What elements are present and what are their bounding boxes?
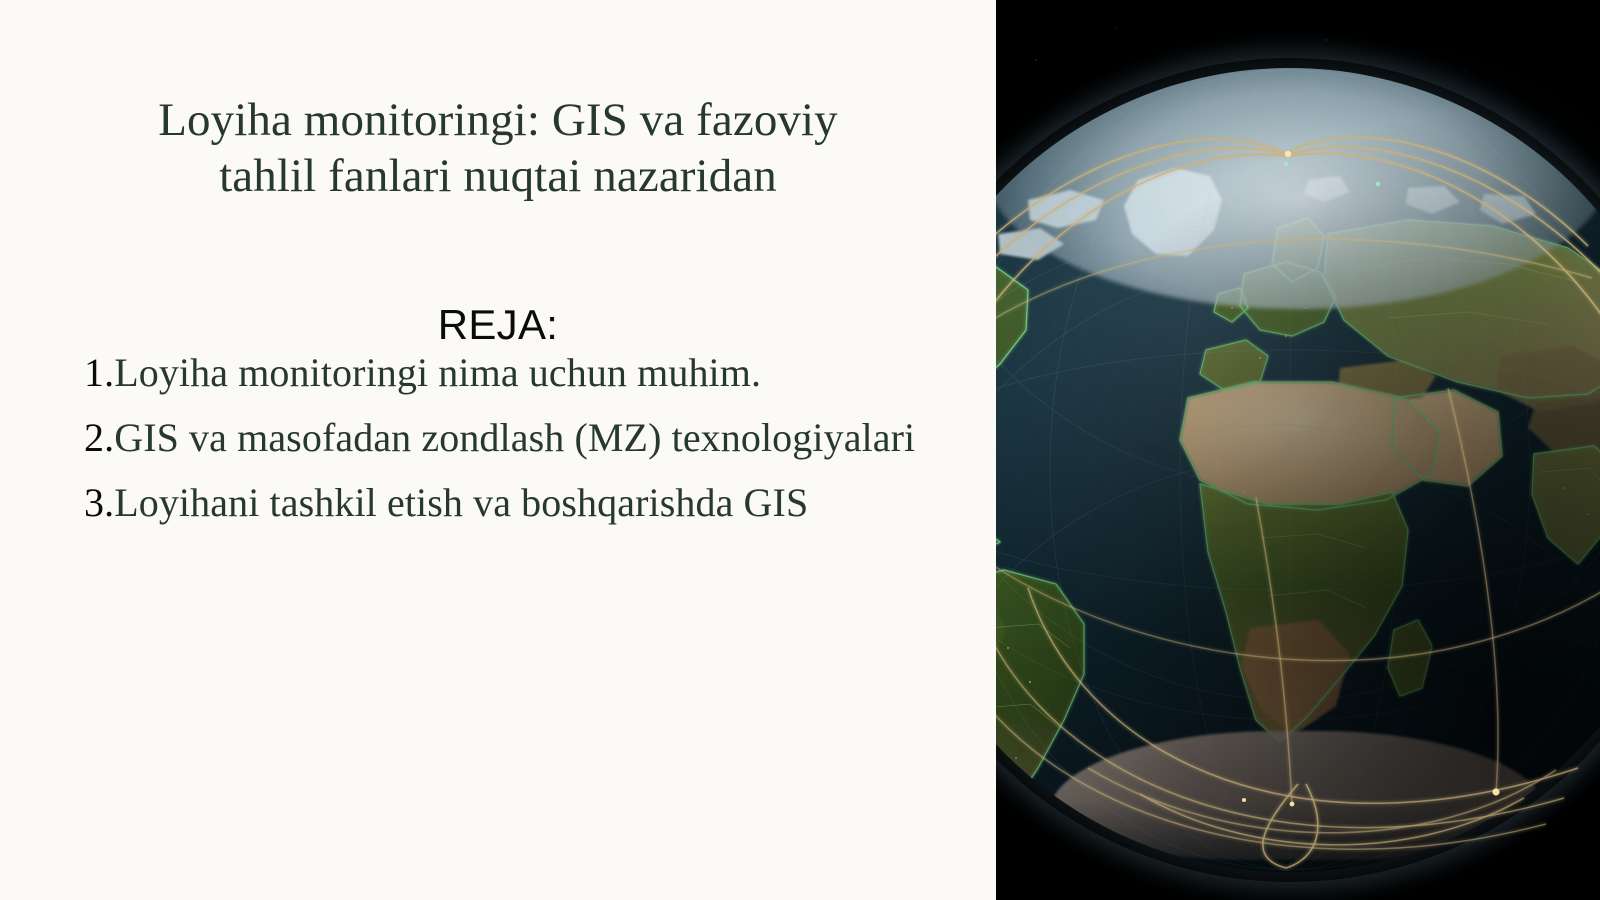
graticule-grid [996, 68, 1600, 872]
earth-globe-network-image [996, 0, 1600, 900]
agenda-list: 1.Loyiha monitoringi nima uchun muhim. 2… [84, 340, 964, 536]
agenda-item-number: 1. [84, 350, 114, 395]
presentation-slide: Loyiha monitoringi: GIS va fazoviy tahli… [0, 0, 1600, 900]
agenda-item-number: 2. [84, 415, 114, 460]
earth-globe [996, 68, 1600, 872]
agenda-item: 3.Loyihani tashkil etish va boshqarishda… [84, 470, 964, 535]
agenda-item-number: 3. [84, 480, 114, 525]
agenda-item-text: Loyihani tashkil etish va boshqarishda G… [114, 480, 808, 525]
agenda-item-text: GIS va masofadan zondlash (MZ) texnologi… [114, 415, 915, 460]
agenda-item: 2.GIS va masofadan zondlash (MZ) texnolo… [84, 405, 964, 470]
slide-text-panel: Loyiha monitoringi: GIS va fazoviy tahli… [0, 0, 996, 900]
agenda-item-text: Loyiha monitoringi nima uchun muhim. [114, 350, 761, 395]
agenda-item: 1.Loyiha monitoringi nima uchun muhim. [84, 340, 964, 405]
slide-title: Loyiha monitoringi: GIS va fazoviy tahli… [118, 93, 878, 204]
